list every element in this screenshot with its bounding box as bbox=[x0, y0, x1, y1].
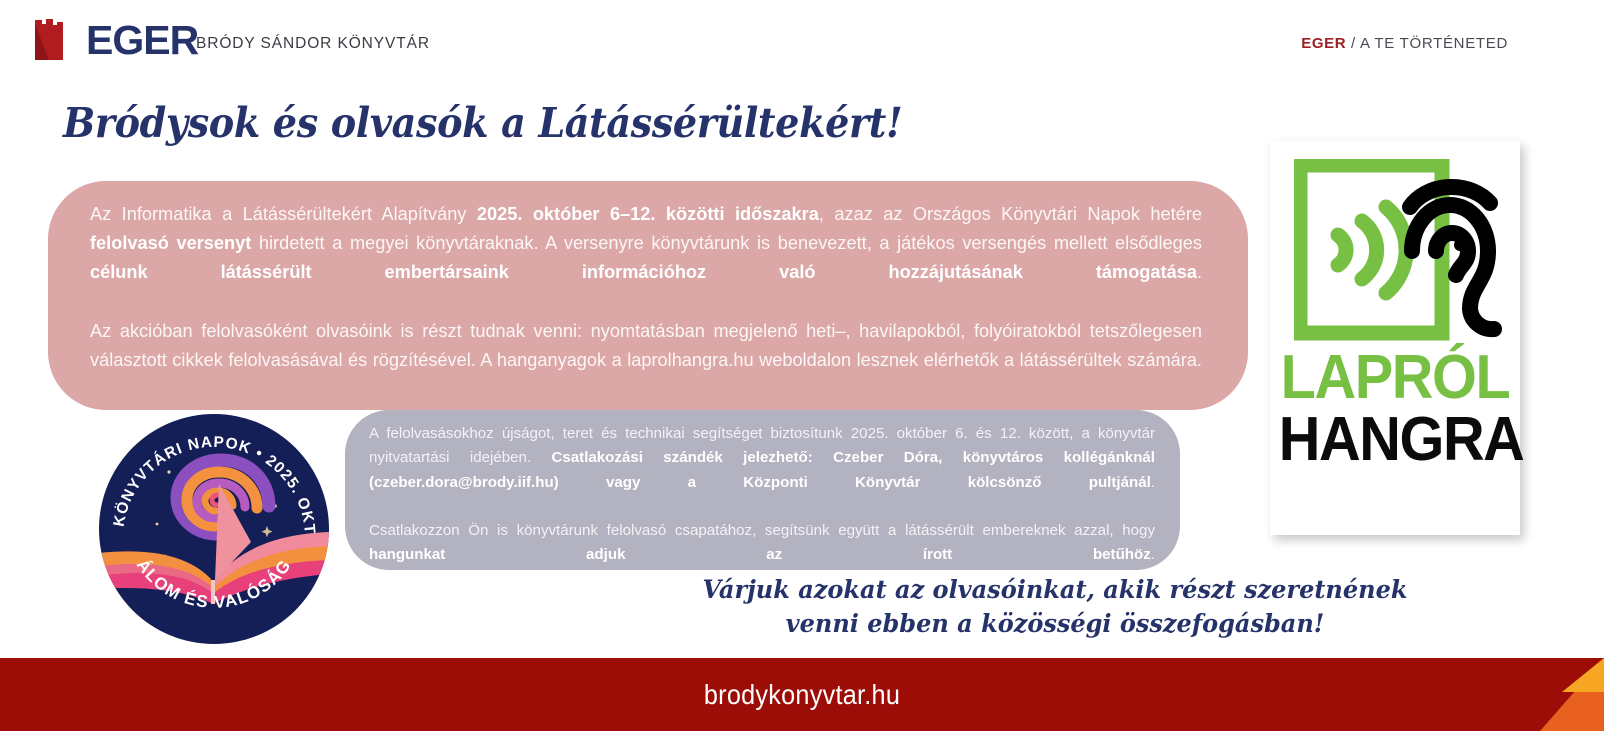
eger-logo[interactable]: EGER bbox=[33, 16, 198, 64]
ear-sound-icon bbox=[1294, 159, 1502, 341]
laprol-hangra-logo[interactable]: LAPRÓL HANGRA bbox=[1270, 141, 1520, 535]
details-panel-text: A felolvasásokhoz újságot, teret és tech… bbox=[369, 422, 1155, 592]
slogan-brand: EGER bbox=[1301, 35, 1346, 52]
hangra-text: HANGRA bbox=[1279, 409, 1512, 471]
closing-message: Várjuk azokat az olvasóinkat, akik részt… bbox=[657, 573, 1454, 641]
eger-wordmark: EGER bbox=[86, 20, 198, 61]
laprol-text: LAPRÓL bbox=[1279, 347, 1512, 409]
badge-artwork: ORSZÁGOS KÖNYVTÁRI NAPOK • 2025. OKTÓBER… bbox=[99, 414, 329, 644]
closing-line-2: venni ebben a közösségi összefogásban! bbox=[657, 607, 1454, 641]
slogan-rest: / A TE TÖRTÉNETED bbox=[1346, 35, 1508, 52]
library-name: BRÓDY SÁNDOR KÖNYVTÁR bbox=[196, 35, 430, 53]
intro-paragraph-2: Az akcióban felolvasóként olvasóink is r… bbox=[90, 317, 1202, 405]
details-paragraph-1: A felolvasásokhoz újságot, teret és tech… bbox=[369, 422, 1155, 519]
page-title: Bródysok és olvasók a Látássérültekért! bbox=[63, 99, 902, 147]
library-days-badge: ORSZÁGOS KÖNYVTÁRI NAPOK • 2025. OKTÓBER… bbox=[99, 414, 329, 644]
page-footer: brodykonyvtar.hu bbox=[0, 658, 1604, 731]
intro-panel-text: Az Informatika a Látássérültekért Alapít… bbox=[90, 200, 1202, 404]
page-header: EGER BRÓDY SÁNDOR KÖNYVTÁR EGER / A TE T… bbox=[0, 0, 1604, 88]
intro-panel: Az Informatika a Látássérültekért Alapít… bbox=[48, 181, 1248, 410]
city-slogan: EGER / A TE TÖRTÉNETED bbox=[1301, 35, 1508, 52]
intro-paragraph-1: Az Informatika a Látássérültekért Alapít… bbox=[90, 200, 1202, 317]
details-panel: A felolvasásokhoz újságot, teret és tech… bbox=[345, 410, 1180, 570]
castle-icon bbox=[33, 16, 73, 64]
footer-corner-yellow bbox=[1562, 658, 1604, 692]
website-url[interactable]: brodykonyvtar.hu bbox=[80, 658, 1524, 731]
poster-canvas: EGER BRÓDY SÁNDOR KÖNYVTÁR EGER / A TE T… bbox=[0, 0, 1604, 731]
closing-line-1: Várjuk azokat az olvasóinkat, akik részt… bbox=[657, 573, 1454, 607]
